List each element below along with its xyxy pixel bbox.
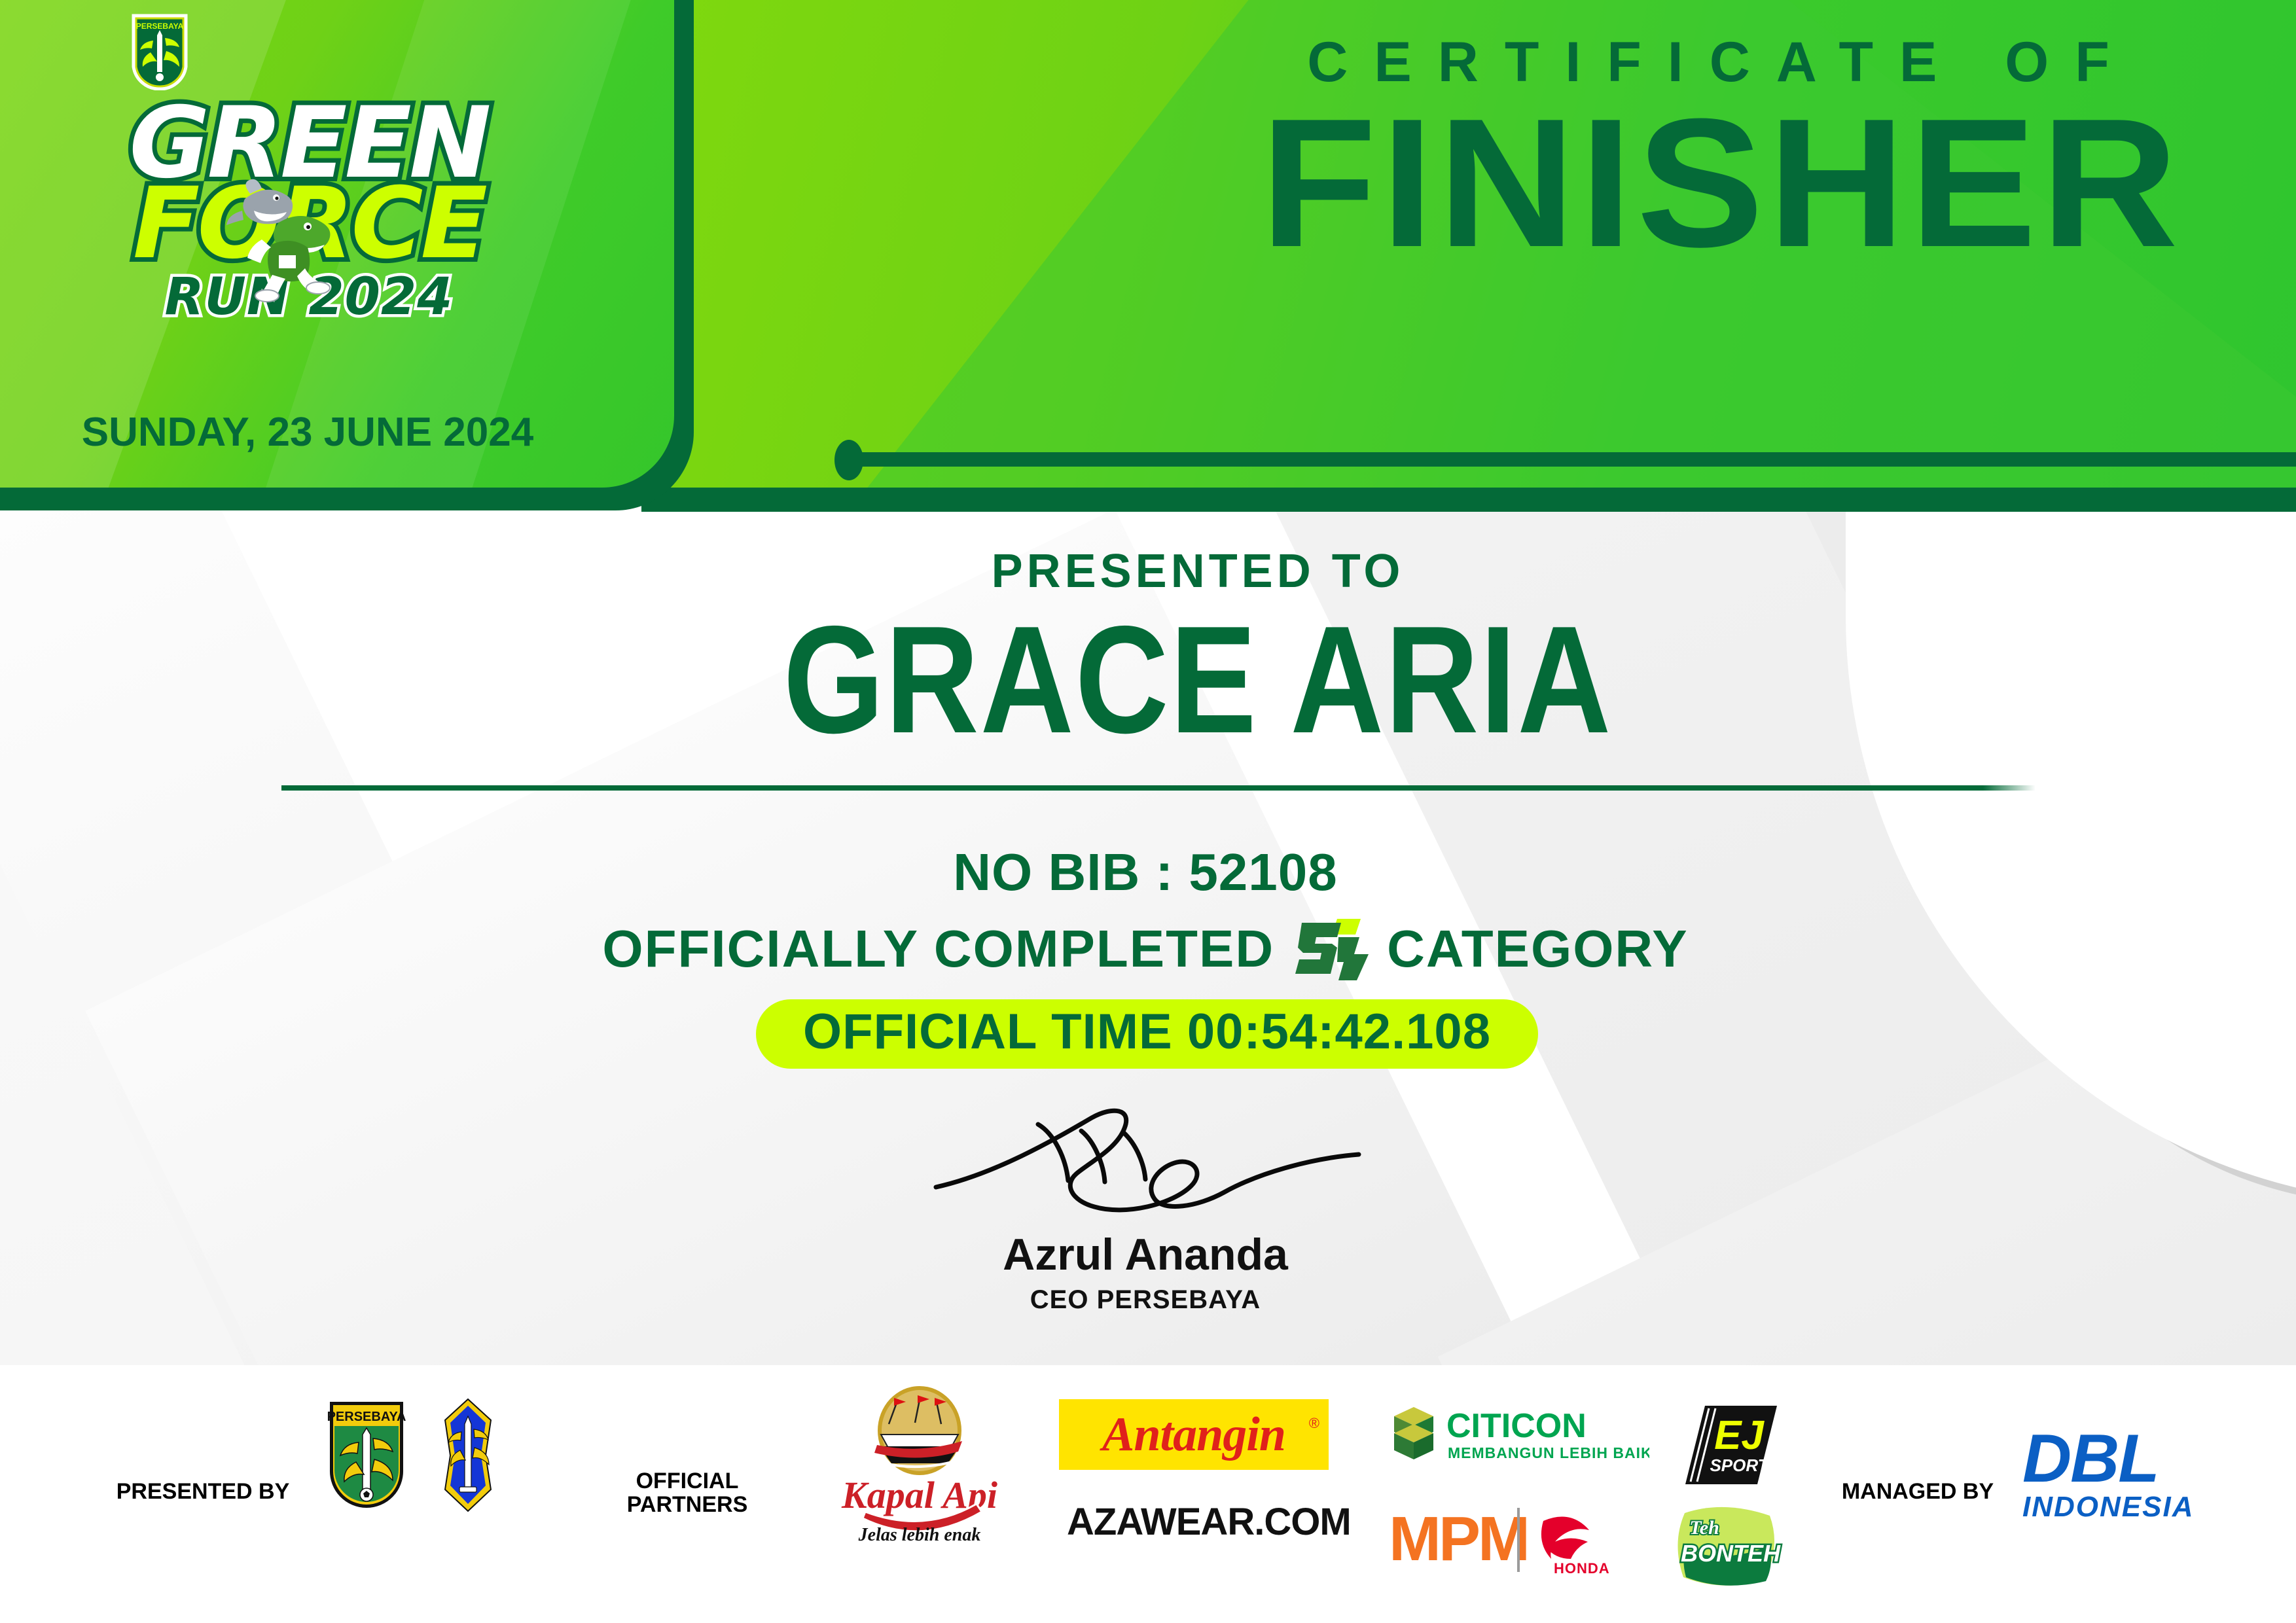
divider-line — [854, 452, 2296, 467]
bib-number-line: NO BIB : 52108 — [524, 842, 1767, 902]
sponsor-logo-persebaya: PERSEBAYA — [327, 1399, 406, 1510]
teh-wordmark: Teh — [1689, 1517, 1719, 1539]
header-bottom-dark-strip — [641, 488, 2296, 512]
ej-wordmark: EJ — [1714, 1413, 1765, 1458]
sponsor-logo-citicon: CITICON MEMBANGUN LEBIH BAIK — [1388, 1403, 1649, 1469]
kapal-api-tagline: Jelas lebih enak — [858, 1525, 981, 1545]
signatory-role: CEO PERSEBAYA — [818, 1285, 1473, 1315]
presented-to-label: PRESENTED TO — [687, 544, 1708, 598]
sponsor-logo-kapal-api: Kapal Api Jelas lebih enak — [838, 1383, 1001, 1547]
sponsor-logo-azawear: AZAWEAR.COM — [1067, 1500, 1329, 1544]
honda-wordmark: HONDA — [1554, 1560, 1610, 1576]
signature-block: Azrul Ananda CEO PERSEBAYA — [818, 1101, 1473, 1315]
signature-icon — [916, 1101, 1374, 1232]
dbl-wordmark: DBL — [2022, 1428, 2194, 1491]
name-underline — [281, 785, 2036, 791]
persebaya-wordmark: PERSEBAYA — [327, 1410, 406, 1424]
footer-sponsors: PRESENTED BY PERSEBAYA — [0, 1365, 2296, 1623]
sponsor-logo-ej-sport: EJ SPORT — [1685, 1406, 1777, 1484]
official-partners-line1: OFFICIAL — [602, 1470, 772, 1493]
category-line: OFFICIALLY COMPLETED CATEGORY — [393, 918, 1898, 980]
official-partners-line2: PARTNERS — [602, 1493, 772, 1517]
official-time-badge: OFFICIAL TIME 00:54:42.108 — [756, 999, 1538, 1069]
completed-suffix: CATEGORY — [1387, 919, 1688, 979]
sponsor-logo-dbl-indonesia: DBL INDONESIA — [2022, 1428, 2194, 1524]
event-date: SUNDAY, 23 JUNE 2024 — [26, 409, 589, 455]
citicon-tagline: MEMBANGUN LEBIH BAIK — [1448, 1444, 1649, 1461]
certificate-body: PRESENTED TO GRACE ARIA NO BIB : 52108 O… — [0, 512, 2296, 1363]
official-partners-label: OFFICIAL PARTNERS — [602, 1470, 772, 1516]
signatory-name: Azrul Ananda — [818, 1229, 1473, 1280]
sponsor-logo-teh-bonteh: Teh BONTEH — [1669, 1501, 1787, 1586]
header: PERSEBAYA GREEN FORCE RUN 2024 — [0, 0, 2296, 517]
bonteh-wordmark: BONTEH — [1681, 1540, 1781, 1567]
completed-prefix: OFFICIALLY COMPLETED — [602, 919, 1274, 979]
finisher-title: FINISHER — [1149, 92, 2293, 275]
svg-text:PERSEBAYA: PERSEBAYA — [136, 22, 184, 31]
sport-wordmark: SPORT — [1710, 1455, 1769, 1475]
antangin-wordmark: Antangin — [1102, 1407, 1285, 1463]
official-time-text: OFFICIAL TIME 00:54:42.108 — [803, 1003, 1491, 1060]
antangin-registered-icon: ® — [1309, 1415, 1319, 1432]
sponsor-logo-antangin: Antangin ® — [1059, 1399, 1329, 1470]
certificate-root: PERSEBAYA GREEN FORCE RUN 2024 — [0, 0, 2296, 1623]
sponsor-logo-surabaya-city — [432, 1398, 504, 1512]
shark-crocodile-mascot-icon — [216, 171, 360, 302]
recipient-name: GRACE ARIA — [655, 603, 1741, 757]
managed-by-label: MANAGED BY — [1826, 1480, 2009, 1504]
dbl-indonesia-wordmark: INDONESIA — [2022, 1491, 2194, 1524]
persebaya-crest-icon: PERSEBAYA — [131, 12, 188, 90]
five-k-badge-icon — [1291, 918, 1370, 980]
mpm-wordmark: MPM — [1389, 1504, 1528, 1574]
sponsor-logo-mpm-honda: MPM HONDA — [1389, 1504, 1624, 1576]
citicon-wordmark: CITICON — [1446, 1407, 1587, 1445]
presented-by-label: PRESENTED BY — [111, 1480, 295, 1504]
